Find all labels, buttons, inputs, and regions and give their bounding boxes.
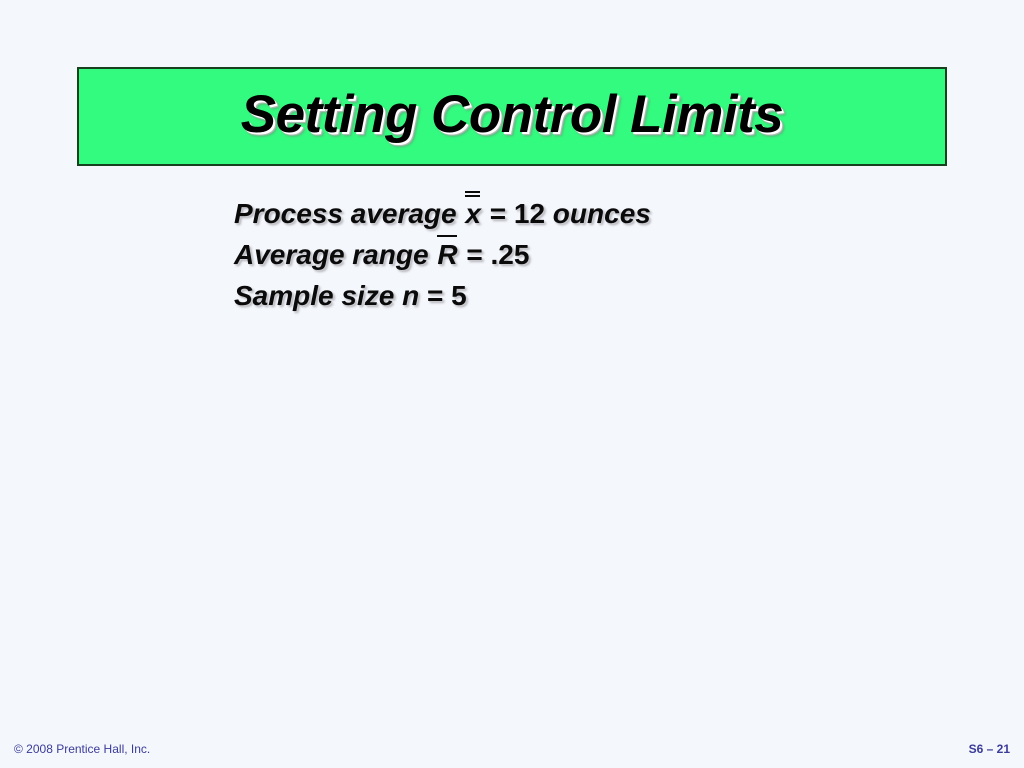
process-average-value: = 12 (482, 198, 545, 229)
r-bar-symbol: R (436, 241, 458, 269)
body-line-process-average: Process average x = 12 ounces (234, 193, 874, 234)
page-title: Setting Control Limits (241, 88, 784, 141)
title-banner: Setting Control Limits (77, 67, 947, 166)
average-range-value: = .25 (459, 239, 530, 270)
slide-canvas: Setting Control Limits Process average x… (0, 0, 1024, 768)
body-text-block: Process average x = 12 ounces Average ra… (234, 193, 874, 316)
n-symbol: n (402, 280, 419, 311)
process-average-label: Process average (234, 198, 464, 229)
body-line-sample-size: Sample size n = 5 (234, 275, 874, 316)
sample-size-value: = 5 (419, 280, 466, 311)
average-range-label: Average range (234, 239, 436, 270)
process-average-unit: ounces (545, 198, 651, 229)
x-double-bar-symbol: x (464, 200, 482, 228)
body-line-average-range: Average range R = .25 (234, 234, 874, 275)
copyright-notice: © 2008 Prentice Hall, Inc. (14, 742, 150, 756)
sample-size-label: Sample size (234, 280, 402, 311)
slide-number: S6 – 21 (969, 742, 1010, 756)
